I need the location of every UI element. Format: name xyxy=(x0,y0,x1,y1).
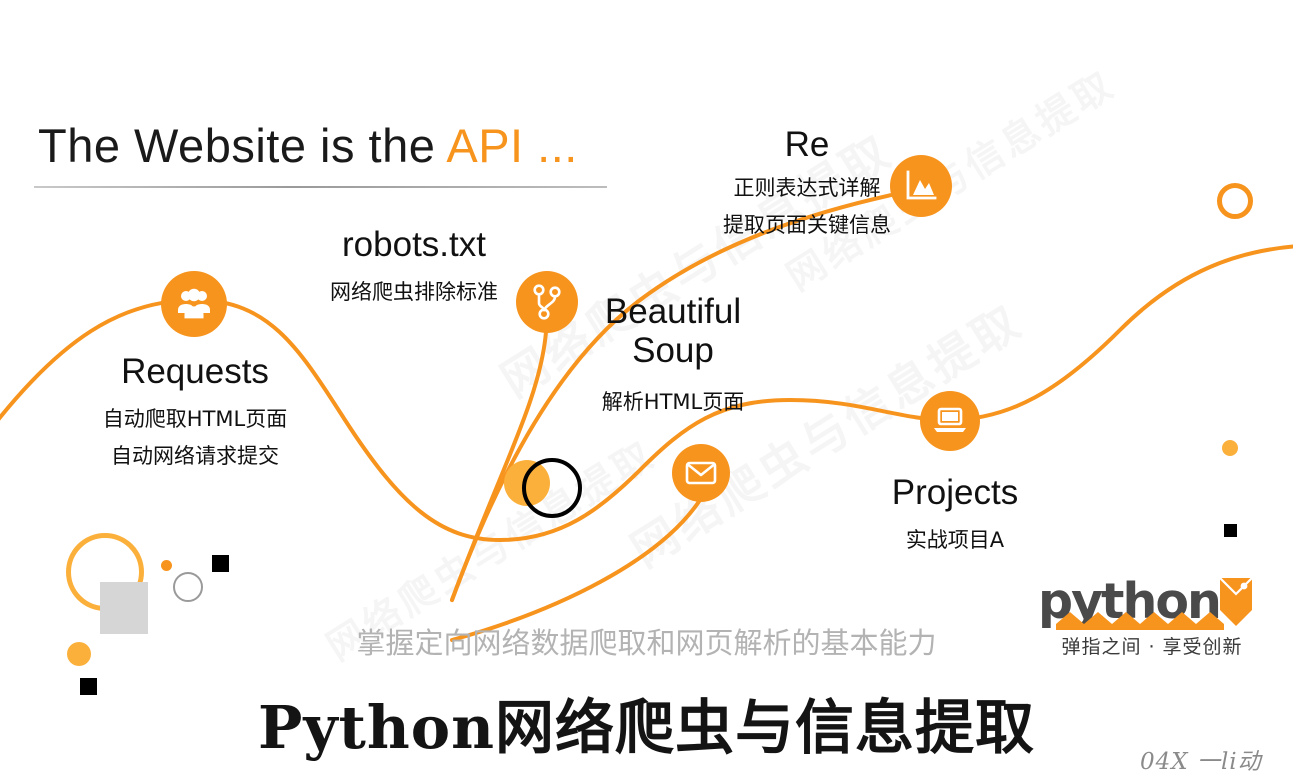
python-logo: python 弹指之间 · 享受创新 xyxy=(1038,576,1266,659)
label-re: Re 正则表达式详解 提取页面关键信息 xyxy=(672,125,942,244)
footer-title: Python网络爬虫与信息提取 xyxy=(0,680,1293,765)
deco-black-square-right xyxy=(1224,524,1237,537)
deco-orange-dot-right xyxy=(1222,440,1238,456)
node-requests[interactable] xyxy=(161,271,227,337)
curve-right-sweep xyxy=(948,246,1293,420)
signature-watermark: 04X 一li动 xyxy=(1140,742,1262,776)
page-title-accent: API ... xyxy=(446,119,578,172)
label-re-line-2: 提取页面关键信息 xyxy=(672,207,942,244)
label-beautiful-soup: Beautiful Soup 解析HTML页面 xyxy=(568,292,778,421)
people-group-icon xyxy=(174,284,214,324)
page-title-plain: The Website is the xyxy=(38,119,446,172)
python-wordmark-wrap: python xyxy=(1038,576,1266,628)
python-logo-mark xyxy=(1038,574,1266,632)
deco-black-square-upper xyxy=(212,555,229,572)
page-title: The Website is the API ... xyxy=(38,118,578,173)
python-logo-tagline: 弹指之间 · 享受创新 xyxy=(1038,632,1266,659)
label-re-title: Re xyxy=(672,125,942,164)
laptop-icon xyxy=(932,406,968,436)
label-robots-title: robots.txt xyxy=(290,225,538,264)
label-soup-title-line2: Soup xyxy=(568,331,778,370)
label-requests-line-1: 自动爬取HTML页面 xyxy=(60,401,330,438)
label-requests-line-2: 自动网络请求提交 xyxy=(60,438,330,475)
label-soup-title-line1: Beautiful xyxy=(568,292,778,331)
label-re-line-1: 正则表达式详解 xyxy=(672,170,942,207)
label-robots: robots.txt 网络爬虫排除标准 xyxy=(290,225,538,311)
node-projects[interactable] xyxy=(920,391,980,451)
label-requests-title: Requests xyxy=(60,352,330,391)
label-projects: Projects 实战项目A xyxy=(830,473,1080,559)
deco-orange-dot-small xyxy=(161,560,172,571)
slide-canvas: 网络爬虫与信息提取 网络爬虫与信息提取 网络爬虫与信息提取 网络爬虫与信息提取 … xyxy=(0,0,1293,776)
deco-orange-ring-right xyxy=(1217,183,1253,219)
label-projects-line-1: 实战项目A xyxy=(830,522,1080,559)
envelope-icon xyxy=(685,460,717,486)
label-soup-line-1: 解析HTML页面 xyxy=(568,384,778,421)
title-divider xyxy=(34,186,607,188)
node-beautiful-soup[interactable] xyxy=(672,444,730,502)
label-robots-line-1: 网络爬虫排除标准 xyxy=(290,274,538,311)
label-projects-title: Projects xyxy=(830,473,1080,512)
deco-gray-ring xyxy=(173,572,203,602)
label-requests: Requests 自动爬取HTML页面 自动网络请求提交 xyxy=(60,352,330,475)
deco-black-ring xyxy=(522,458,582,518)
